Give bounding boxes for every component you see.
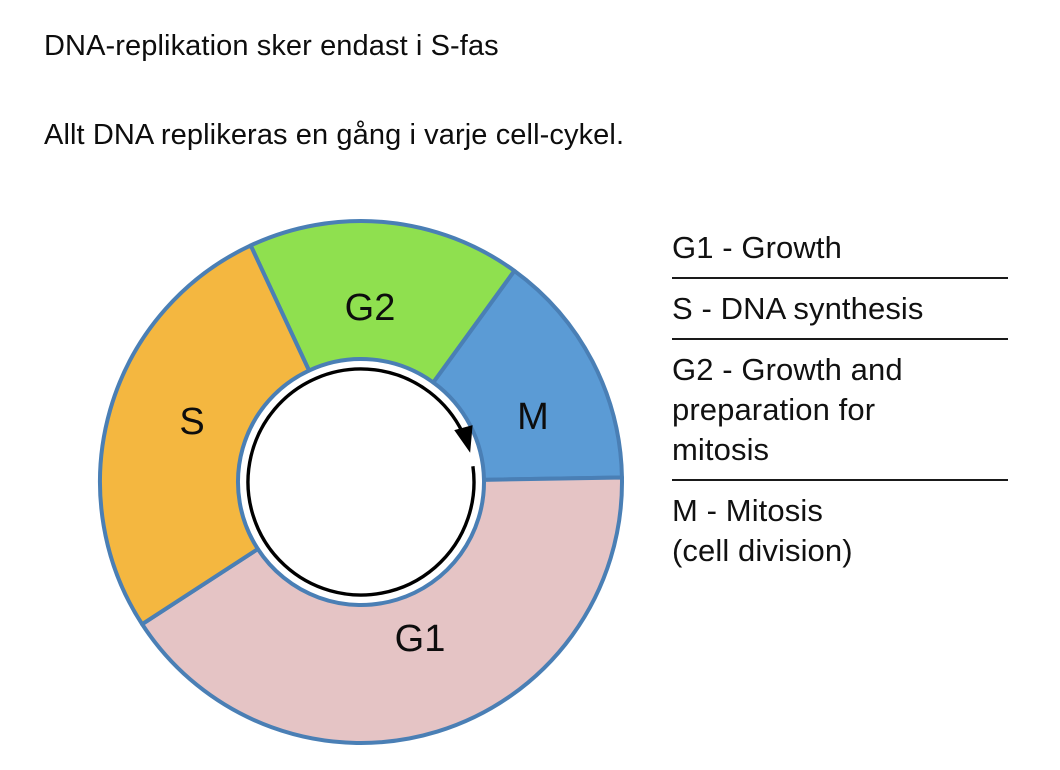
slide-canvas: DNA-replikation sker endast i S-fas Allt… (0, 0, 1060, 770)
legend-entry-g2: G2 - Growth and preparation for mitosis (672, 350, 1017, 470)
donut-label-g2: G2 (345, 287, 396, 329)
cycle-arrow-arc (248, 369, 474, 595)
legend-entry-g1: G1 - Growth (672, 226, 1017, 268)
slide-heading-primary: DNA-replikation sker endast i S-fas (44, 26, 944, 66)
cell-cycle-legend: G1 - Growth S - DNA synthesis G2 - Growt… (672, 226, 1017, 571)
donut-inner-arrow (248, 369, 474, 595)
cell-cycle-donut-chart: G2 M G1 S (90, 210, 635, 755)
legend-entry-g1-line-1: G1 - Growth (672, 228, 1017, 268)
donut-label-m: M (517, 396, 549, 438)
donut-label-g1: G1 (395, 618, 446, 660)
donut-label-s: S (179, 401, 204, 443)
slide-heading-secondary: Allt DNA replikeras en gång i varje cell… (44, 115, 944, 155)
legend-entry-m: M - Mitosis (cell division) (672, 491, 1017, 571)
legend-entry-m-line-2: (cell division) (672, 531, 1017, 571)
legend-entry-g2-line-3: mitosis (672, 430, 1017, 470)
heading-block: DNA-replikation sker endast i S-fas Allt… (44, 26, 944, 155)
legend-entry-s: S - DNA synthesis (672, 289, 1017, 329)
legend-entry-m-line-1: M - Mitosis (672, 491, 1017, 531)
legend-divider-2 (672, 338, 1008, 340)
legend-entry-g2-line-2: preparation for (672, 390, 1017, 430)
legend-entry-s-line-1: S - DNA synthesis (672, 289, 1017, 329)
legend-entry-g2-line-1: G2 - Growth and (672, 350, 1017, 390)
legend-divider-3 (672, 479, 1008, 481)
cycle-arrow-head (454, 425, 472, 453)
legend-divider-1 (672, 277, 1008, 279)
